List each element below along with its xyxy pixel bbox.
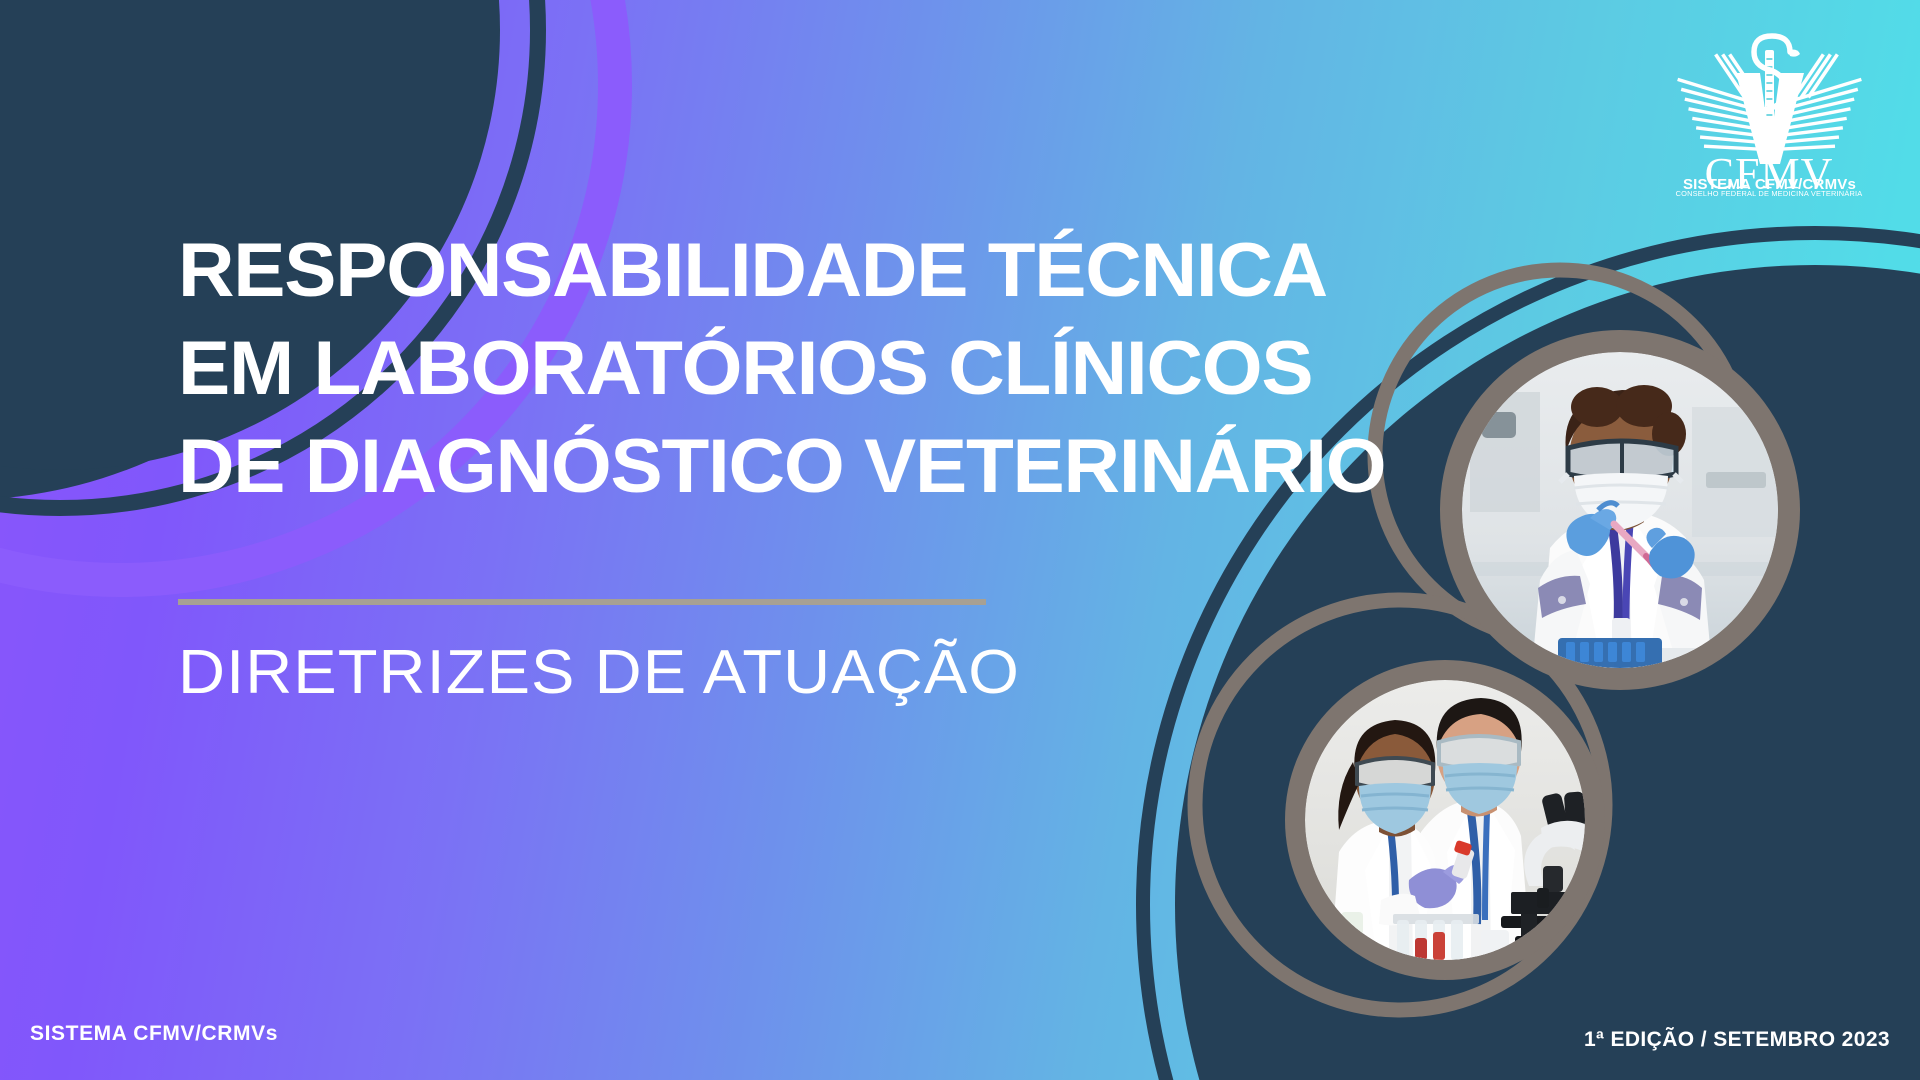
cover-title: RESPONSABILIDADE TÉCNICA EM LABORATÓRIOS… <box>178 222 1428 516</box>
photo-scientist-pipetting-ring <box>1440 330 1800 690</box>
footer-edition-label: 1ª EDIÇÃO / SETEMBRO 2023 <box>1584 1028 1890 1052</box>
cover-subtitle: DIRETRIZES DE ATUAÇÃO <box>178 635 1020 711</box>
publication-cover: CFMV CONSELHO FEDERAL DE MEDICINA VETERI… <box>0 0 1920 1080</box>
cfmv-logo: CFMV CONSELHO FEDERAL DE MEDICINA VETERI… <box>1662 28 1877 200</box>
title-divider <box>178 599 986 605</box>
photo-scientist-pipetting-art <box>1462 352 1778 668</box>
photo-scientist-pipetting <box>1462 352 1778 668</box>
navy-fill-corner <box>0 0 120 420</box>
photo-two-scientists-microscope-art <box>1305 680 1585 960</box>
footer-system-label: SISTEMA CFMV/CRMVs <box>30 1022 278 1046</box>
title-line-3: DE DIAGNÓSTICO VETERINÁRIO <box>178 418 1466 516</box>
caduceus-v-emblem <box>1677 36 1862 164</box>
cfmv-logo-art: CFMV CONSELHO FEDERAL DE MEDICINA VETERI… <box>1662 28 1877 200</box>
title-line-2: EM LABORATÓRIOS CLÍNICOS <box>178 320 1466 418</box>
photo-two-scientists-microscope-ring <box>1285 660 1605 980</box>
title-line-1: RESPONSABILIDADE TÉCNICA <box>178 222 1466 320</box>
photo-two-scientists-microscope <box>1305 680 1585 960</box>
cfmv-system-line: SISTEMA CFMV/CRMVs <box>1662 176 1877 193</box>
